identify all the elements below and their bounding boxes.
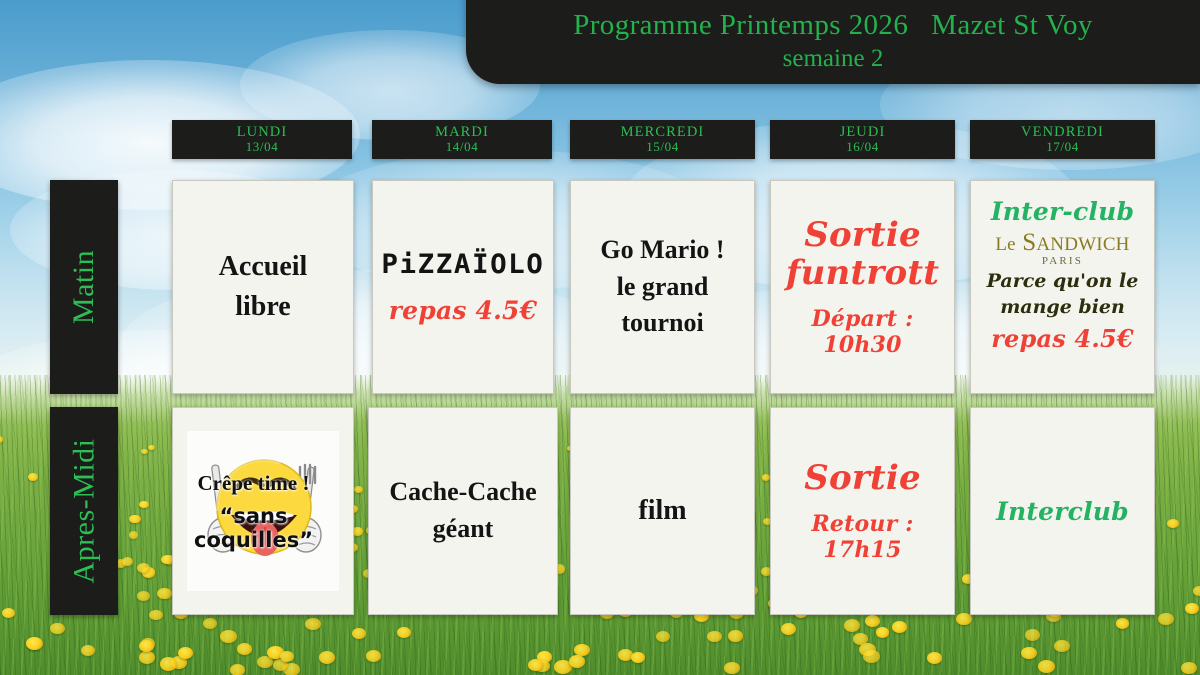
day-header-mercredi: MERCREDI 15/04 bbox=[570, 120, 755, 159]
dandelion-flower bbox=[148, 445, 155, 450]
slide-canvas: Programme Printemps 2026 Mazet St Voy se… bbox=[0, 0, 1200, 675]
row-label-text: Apres-Midi bbox=[67, 439, 101, 584]
dandelion-flower bbox=[1158, 613, 1174, 625]
day-header-vendredi: VENDREDI 17/04 bbox=[970, 120, 1155, 159]
dandelion-flower bbox=[354, 486, 363, 493]
dandelion-flower bbox=[762, 474, 771, 481]
dandelion-flower bbox=[528, 659, 543, 671]
day-name: VENDREDI bbox=[1021, 125, 1104, 140]
day-name: MARDI bbox=[435, 125, 489, 140]
brand-s: S bbox=[1022, 229, 1036, 256]
activity-line: libre bbox=[235, 287, 290, 327]
dandelion-flower bbox=[1038, 660, 1055, 673]
cell-mardi-apres-midi[interactable]: Cache-Cache géant bbox=[368, 407, 558, 615]
day-date: 16/04 bbox=[846, 140, 879, 154]
activity-note: “sans coquilles” bbox=[172, 504, 339, 552]
dandelion-flower bbox=[1185, 603, 1199, 614]
banner-subtitle: semaine 2 bbox=[783, 43, 884, 74]
dandelion-flower bbox=[1021, 647, 1037, 659]
day-date: 17/04 bbox=[1046, 140, 1079, 154]
cell-jeudi-apres-midi[interactable]: Sortie Retour : 17h15 bbox=[770, 407, 955, 615]
dandelion-flower bbox=[129, 515, 140, 524]
activity-line: le grand bbox=[617, 269, 709, 306]
dandelion-flower bbox=[1167, 519, 1179, 528]
day-name: MERCREDI bbox=[621, 125, 705, 140]
dandelion-flower bbox=[366, 650, 381, 662]
dandelion-flower bbox=[137, 591, 150, 601]
dandelion-flower bbox=[1025, 629, 1040, 641]
dandelion-flower bbox=[844, 619, 860, 632]
dandelion-flower bbox=[534, 660, 549, 672]
activity-line: funtrott bbox=[786, 254, 939, 292]
brand-tagline: mange bien bbox=[1000, 296, 1125, 318]
dandelion-flower bbox=[352, 628, 366, 639]
dandelion-flower bbox=[257, 656, 272, 668]
row-label-apres-midi: Apres-Midi bbox=[50, 407, 118, 615]
brand-tagline: Parce qu'on le bbox=[987, 270, 1139, 292]
day-date: 14/04 bbox=[446, 140, 479, 154]
dandelion-flower bbox=[1116, 618, 1129, 629]
dandelion-flower bbox=[137, 563, 151, 574]
cell-jeudi-matin[interactable]: Sortie funtrott Départ : 10h30 bbox=[770, 180, 955, 394]
return-time: Retour : 17h15 bbox=[771, 511, 954, 563]
dandelion-flower bbox=[574, 644, 590, 656]
dandelion-flower bbox=[139, 640, 154, 652]
dandelion-flower bbox=[656, 631, 670, 642]
dandelion-flower bbox=[927, 652, 942, 664]
dandelion-flower bbox=[1181, 662, 1197, 674]
dandelion-flower bbox=[728, 630, 743, 641]
dandelion-flower bbox=[237, 643, 253, 655]
day-header-jeudi: JEUDI 16/04 bbox=[770, 120, 955, 159]
activity-line: tournoi bbox=[621, 305, 703, 342]
title-banner: Programme Printemps 2026 Mazet St Voy se… bbox=[466, 0, 1200, 84]
dandelion-flower bbox=[283, 663, 300, 675]
dandelion-flower bbox=[319, 651, 336, 664]
dandelion-flower bbox=[160, 657, 178, 671]
dandelion-flower bbox=[26, 637, 43, 650]
dandelion-flower bbox=[267, 646, 284, 659]
meal-price: repas 4.5€ bbox=[991, 324, 1134, 353]
dandelion-flower bbox=[129, 531, 139, 539]
activity-line: film bbox=[638, 491, 686, 531]
dandelion-flower bbox=[122, 557, 134, 566]
dandelion-flower bbox=[157, 588, 171, 599]
dandelion-flower bbox=[171, 656, 187, 669]
cell-mercredi-matin[interactable]: Go Mario ! le grand tournoi bbox=[570, 180, 755, 394]
dandelion-flower bbox=[707, 631, 722, 643]
pizzaiolo-logo: PiZZAÏOLO bbox=[381, 249, 544, 280]
meal-price: repas 4.5€ bbox=[389, 296, 537, 325]
activity-line: géant bbox=[433, 511, 494, 548]
dandelion-flower bbox=[2, 608, 15, 618]
banner-title: Programme Printemps 2026 Mazet St Voy bbox=[573, 8, 1093, 43]
cell-mercredi-apres-midi[interactable]: film bbox=[570, 407, 755, 615]
day-date: 13/04 bbox=[246, 140, 279, 154]
dandelion-flower bbox=[554, 660, 572, 674]
activity-line: Accueil bbox=[219, 247, 308, 287]
brand-name: Le SANDWICH bbox=[975, 230, 1150, 256]
dandelion-flower bbox=[178, 647, 193, 659]
dandelion-flower bbox=[141, 449, 148, 454]
dandelion-flower bbox=[1054, 640, 1069, 652]
cell-vendredi-apres-midi[interactable]: Interclub bbox=[970, 407, 1155, 615]
dandelion-flower bbox=[81, 645, 96, 656]
dandelion-flower bbox=[142, 567, 156, 578]
activity-line: Sortie bbox=[804, 216, 921, 254]
dandelion-flower bbox=[26, 637, 42, 650]
crepe-caption: Crêpe time ! “sans coquilles” bbox=[172, 471, 339, 552]
dandelion-flower bbox=[139, 651, 155, 664]
day-date: 15/04 bbox=[646, 140, 679, 154]
day-name: LUNDI bbox=[237, 125, 288, 140]
activity-line: Crêpe time ! bbox=[172, 471, 339, 496]
cell-mardi-matin[interactable]: PiZZAÏOLO repas 4.5€ bbox=[372, 180, 554, 394]
brand-rest: ANDWICH bbox=[1036, 234, 1129, 255]
dandelion-flower bbox=[569, 655, 585, 668]
cell-lundi-apres-midi[interactable]: Crêpe time ! “sans coquilles” bbox=[172, 407, 354, 615]
dandelion-flower bbox=[781, 623, 796, 635]
dandelion-flower bbox=[220, 630, 237, 643]
activity-line: Go Mario ! bbox=[600, 232, 724, 269]
dandelion-flower bbox=[1193, 586, 1200, 595]
interclub-title: Inter-club bbox=[991, 197, 1134, 226]
dandelion-flower bbox=[0, 436, 3, 442]
departure-time: Départ : 10h30 bbox=[771, 306, 954, 358]
dandelion-flower bbox=[892, 621, 907, 633]
dandelion-flower bbox=[876, 627, 890, 638]
day-header-mardi: MARDI 14/04 bbox=[372, 120, 552, 159]
dandelion-flower bbox=[280, 651, 295, 662]
cell-lundi-matin[interactable]: Accueil libre bbox=[172, 180, 354, 394]
dandelion-flower bbox=[537, 651, 552, 663]
row-label-matin: Matin bbox=[50, 180, 118, 394]
dandelion-flower bbox=[631, 652, 645, 663]
day-name: JEUDI bbox=[840, 125, 886, 140]
dandelion-flower bbox=[139, 501, 149, 509]
dandelion-flower bbox=[865, 615, 880, 627]
dandelion-flower bbox=[305, 618, 321, 630]
dandelion-flower bbox=[863, 650, 880, 663]
activity-line: Sortie bbox=[804, 459, 921, 497]
dandelion-flower bbox=[149, 610, 163, 621]
dandelion-flower bbox=[203, 618, 217, 629]
cell-vendredi-matin[interactable]: Inter-club Le SANDWICH PARIS Parce qu'on… bbox=[970, 180, 1155, 394]
dandelion-flower bbox=[618, 649, 634, 661]
dandelion-flower bbox=[859, 643, 876, 656]
dandelion-flower bbox=[273, 659, 288, 671]
dandelion-flower bbox=[141, 638, 155, 649]
activity-line: Cache-Cache bbox=[389, 474, 536, 511]
brand-le: Le bbox=[995, 234, 1015, 255]
dandelion-flower bbox=[397, 627, 411, 638]
row-label-text: Matin bbox=[67, 250, 101, 324]
crepe-image-block: Crêpe time ! “sans coquilles” bbox=[187, 431, 339, 591]
day-header-lundi: LUNDI 13/04 bbox=[172, 120, 352, 159]
dandelion-flower bbox=[230, 664, 245, 675]
dandelion-flower bbox=[724, 662, 740, 674]
activity-line: Interclub bbox=[996, 497, 1129, 526]
brand-city: PARIS bbox=[975, 255, 1150, 267]
dandelion-flower bbox=[28, 473, 38, 481]
sandwich-paris-logo: Le SANDWICH PARIS bbox=[975, 230, 1150, 267]
dandelion-flower bbox=[50, 623, 65, 634]
dandelion-flower bbox=[853, 633, 868, 645]
